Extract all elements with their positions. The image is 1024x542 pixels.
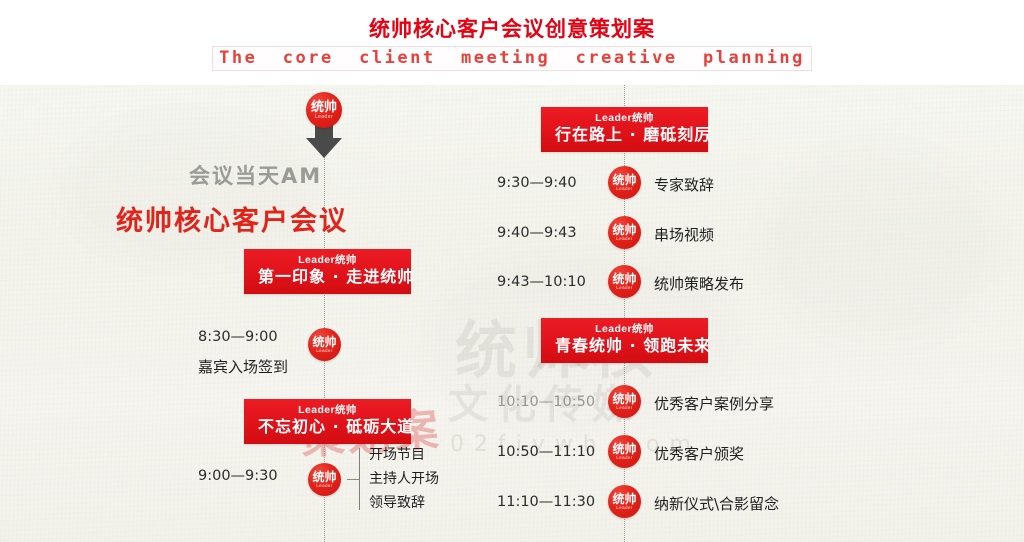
logo-badge-en: Leader bbox=[616, 286, 632, 291]
row-label: 优秀客户案例分享 bbox=[654, 393, 774, 414]
logo-badge: 统帅 Leader bbox=[608, 435, 641, 468]
logo-badge: 统帅 Leader bbox=[306, 92, 342, 128]
banner-title: 不忘初心 · 砥砺大道 bbox=[258, 417, 397, 437]
paper-texture-blotch bbox=[760, 145, 1000, 345]
banner-title: 青春统帅 · 领跑未来 bbox=[555, 336, 694, 356]
banner-subtitle: Leader统帅 bbox=[555, 323, 694, 335]
logo-badge-cn: 统帅 bbox=[612, 393, 636, 405]
section-banner-youth-leader: Leader统帅 青春统帅 · 领跑未来 bbox=[541, 318, 708, 363]
logo-badge-cn: 统帅 bbox=[311, 101, 337, 114]
banner-title: 行在路上 · 磨砥刻厉 bbox=[555, 125, 694, 145]
timeline-subitems-group: 开场节目 主持人开场 领导致辞 bbox=[347, 448, 439, 510]
section-banner-first-impression: Leader统帅 第一印象 · 走进统帅 bbox=[244, 249, 411, 294]
row-label: 统帅策略发布 bbox=[654, 273, 744, 294]
row-label: 嘉宾入场签到 bbox=[198, 360, 288, 375]
logo-badge-en: Leader bbox=[316, 484, 332, 489]
logo-badge: 统帅 Leader bbox=[608, 385, 641, 418]
logo-badge: 统帅 Leader bbox=[308, 328, 341, 361]
logo-badge-en: Leader bbox=[616, 406, 632, 411]
row-time: 11:10—11:30 bbox=[497, 494, 595, 510]
poster-body: 尺 统帅核 策划案 文化传媒 02fjywh.com bbox=[0, 85, 1024, 542]
list-item: 领导致辞 bbox=[369, 496, 439, 510]
banner-subtitle: Leader统帅 bbox=[258, 404, 397, 416]
logo-badge: 统帅 Leader bbox=[308, 463, 341, 496]
row-time: 9:30—9:40 bbox=[497, 175, 577, 191]
page-subtitle: The core client meeting creative plannin… bbox=[212, 46, 812, 71]
row-time: 9:00—9:30 bbox=[198, 468, 278, 484]
list-item: 主持人开场 bbox=[369, 472, 439, 486]
poster-header: 统帅核心客户会议创意策划案 The core client meeting cr… bbox=[0, 0, 1024, 85]
logo-badge-cn: 统帅 bbox=[612, 273, 636, 285]
row-time: 9:43—10:10 bbox=[497, 274, 586, 290]
logo-badge: 统帅 Leader bbox=[608, 166, 641, 199]
row-time: 10:50—11:10 bbox=[497, 444, 595, 460]
hero-kicker: 会议当天AM bbox=[189, 160, 322, 190]
page-subtitle-wrap: The core client meeting creative plannin… bbox=[0, 46, 1024, 71]
row-label: 纳新仪式\合影留念 bbox=[654, 493, 779, 514]
timeline-row-left: 8:30—9:00 嘉宾入场签到 bbox=[198, 330, 288, 375]
logo-badge-en: Leader bbox=[616, 237, 632, 242]
row-time: 9:40—9:43 bbox=[497, 225, 577, 241]
hero-title: 统帅核心客户会议 bbox=[116, 199, 348, 238]
logo-badge-cn: 统帅 bbox=[612, 224, 636, 236]
subitem-bracket bbox=[359, 448, 360, 510]
logo-badge-en: Leader bbox=[616, 506, 632, 511]
row-label: 专家致辞 bbox=[654, 174, 714, 195]
logo-badge: 统帅 Leader bbox=[608, 265, 641, 298]
logo-badge: 统帅 Leader bbox=[608, 216, 641, 249]
row-time: 10:10—10:50 bbox=[497, 394, 595, 410]
poster-root: 统帅核心客户会议创意策划案 The core client meeting cr… bbox=[0, 0, 1024, 542]
logo-badge-en: Leader bbox=[315, 115, 333, 120]
page-title: 统帅核心客户会议创意策划案 bbox=[0, 13, 1024, 43]
banner-subtitle: Leader统帅 bbox=[555, 112, 694, 124]
subitem-connector bbox=[347, 479, 359, 480]
subitem-list: 开场节目 主持人开场 领导致辞 bbox=[369, 448, 439, 510]
logo-badge-cn: 统帅 bbox=[612, 493, 636, 505]
section-banner-on-the-road: Leader统帅 行在路上 · 磨砥刻厉 bbox=[541, 107, 708, 152]
list-item: 开场节目 bbox=[369, 448, 439, 462]
banner-title: 第一印象 · 走进统帅 bbox=[258, 267, 397, 287]
row-time: 8:30—9:00 bbox=[198, 330, 288, 345]
timeline-rail-right bbox=[624, 85, 625, 542]
logo-badge-cn: 统帅 bbox=[312, 336, 336, 348]
paper-texture-blotch bbox=[60, 115, 320, 265]
logo-badge-en: Leader bbox=[316, 349, 332, 354]
logo-badge-en: Leader bbox=[616, 456, 632, 461]
logo-badge-en: Leader bbox=[616, 187, 632, 192]
logo-badge: 统帅 Leader bbox=[608, 485, 641, 518]
row-label: 串场视频 bbox=[654, 224, 714, 245]
banner-subtitle: Leader统帅 bbox=[258, 254, 397, 266]
row-label: 优秀客户颁奖 bbox=[654, 443, 744, 464]
section-banner-original-aspiration: Leader统帅 不忘初心 · 砥砺大道 bbox=[244, 399, 411, 444]
logo-badge-cn: 统帅 bbox=[612, 174, 636, 186]
logo-badge-cn: 统帅 bbox=[312, 471, 336, 483]
logo-badge-cn: 统帅 bbox=[612, 443, 636, 455]
